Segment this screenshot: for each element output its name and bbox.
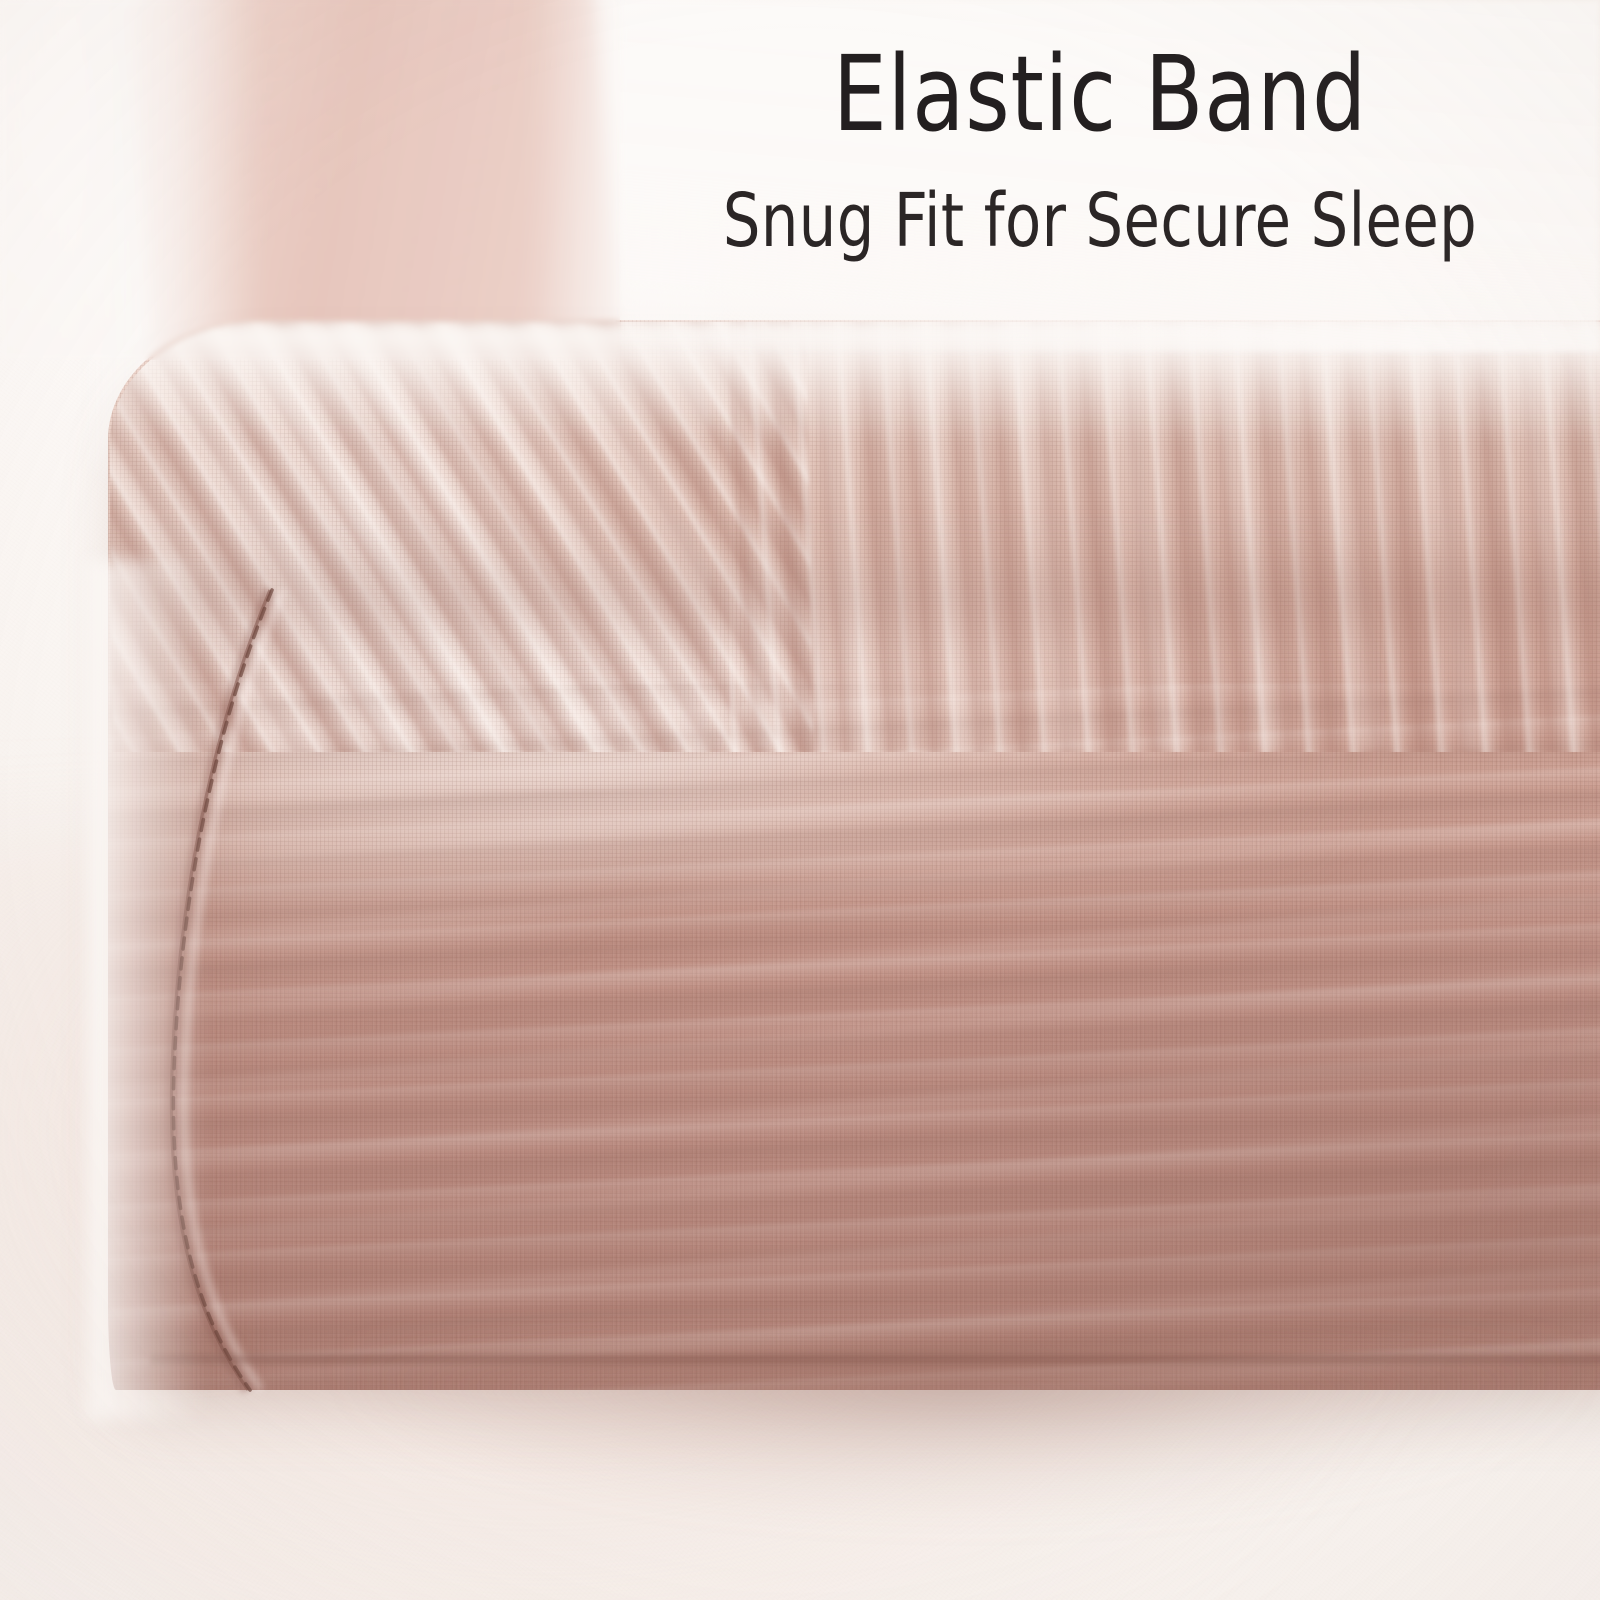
fitted-sheet-mattress <box>108 320 1600 1390</box>
feature-headline: Elastic Band <box>706 40 1493 148</box>
left-edge-light-falloff <box>86 560 206 1420</box>
product-feature-image: Elastic Band Snug Fit for Secure Sleep <box>0 0 1600 1600</box>
feature-subheadline: Snug Fit for Secure Sleep <box>716 182 1484 262</box>
marketing-copy-block: Elastic Band Snug Fit for Secure Sleep <box>620 40 1580 262</box>
fabric-shading <box>108 320 1600 1390</box>
mattress-drop-shadow <box>90 1352 1600 1562</box>
